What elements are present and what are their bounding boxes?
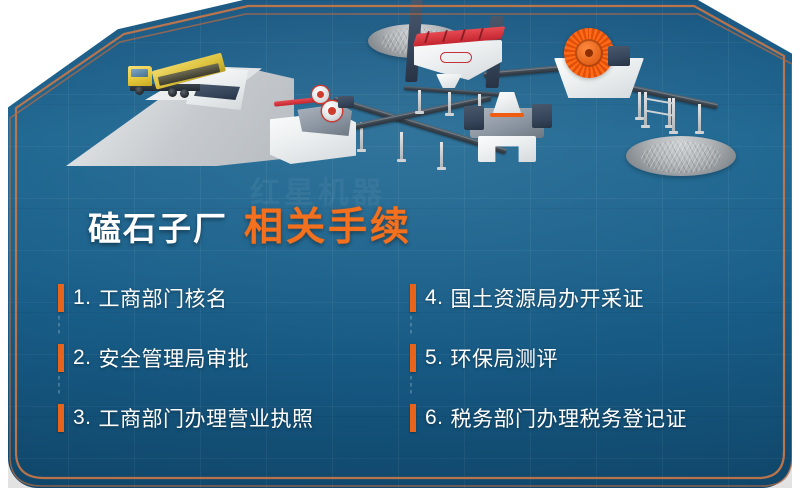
sand-washer-gearbox — [608, 46, 630, 66]
list-item-label: 工商部门核名 — [99, 283, 228, 313]
vsi-motor-left — [464, 106, 484, 130]
list-item[interactable]: 5. 环保局测评 — [410, 328, 758, 388]
bucket-wheel-icon — [564, 28, 614, 78]
list-item-number: 3. — [73, 406, 92, 430]
gravel-stockpile-icon — [626, 136, 736, 176]
list-item-label: 工商部门办理营业执照 — [99, 403, 314, 433]
truck-wheel — [168, 88, 177, 97]
platform-leg — [418, 90, 421, 112]
page-title: 磕石子厂 相关手续 — [88, 196, 412, 252]
bullet-bar-icon — [410, 344, 416, 372]
title-subject: 磕石子厂 — [88, 202, 228, 250]
bullet-bar-icon — [410, 404, 416, 432]
bullet-bar-icon — [58, 284, 64, 312]
procedure-list: 1. 工商部门核名 4. 国土资源局办开采证 2. 安全管理局审批 5. 环保局… — [58, 268, 758, 448]
screen-discharge-chute — [436, 74, 462, 88]
vsi-support-frame — [478, 136, 536, 162]
vsi-orange-band — [490, 113, 524, 117]
list-item-label: 安全管理局审批 — [99, 343, 250, 373]
platform-leg — [448, 92, 451, 114]
truck-windshield — [131, 69, 148, 77]
conveyor-support-leg — [440, 142, 443, 168]
list-item-label: 环保局测评 — [451, 343, 559, 373]
list-item-label: 国土资源局办开采证 — [451, 283, 645, 313]
conveyor-support-leg — [698, 104, 701, 132]
vsi-motor-right — [532, 104, 552, 128]
truck-wheel — [135, 86, 144, 95]
title-highlight: 相关手续 — [244, 196, 412, 252]
list-item[interactable]: 2. 安全管理局审批 — [58, 328, 410, 388]
list-item[interactable]: 3. 工商部门办理营业执照 — [58, 388, 410, 448]
bullet-bar-icon — [410, 284, 416, 312]
conveyor-support-leg — [400, 132, 403, 160]
list-item-number: 6. — [425, 406, 444, 430]
list-item-number: 2. — [73, 346, 92, 370]
jaw-crusher-flywheel — [312, 86, 329, 103]
list-item-number: 1. — [73, 286, 92, 310]
list-item[interactable]: 1. 工商部门核名 — [58, 268, 410, 328]
bullet-bar-icon — [58, 344, 64, 372]
list-item-number: 5. — [425, 346, 444, 370]
list-item-label: 税务部门办理税务登记证 — [451, 403, 688, 433]
jaw-crusher-motor — [338, 96, 354, 108]
bullet-bar-icon — [58, 404, 64, 432]
list-item-number: 4. — [425, 286, 444, 310]
conveyor-support-leg — [638, 92, 641, 118]
poster-stage: 红星机器 磕石子厂 相关手续 1. 工商部门核名 4. 国土资源局办开采证 2.… — [0, 0, 800, 500]
plant-illustration — [8, 0, 792, 200]
list-item[interactable]: 4. 国土资源局办开采证 — [410, 268, 758, 328]
list-item[interactable]: 6. 税务部门办理税务登记证 — [410, 388, 758, 448]
truck-wheel — [180, 89, 189, 98]
screen-side-decal — [440, 52, 472, 63]
